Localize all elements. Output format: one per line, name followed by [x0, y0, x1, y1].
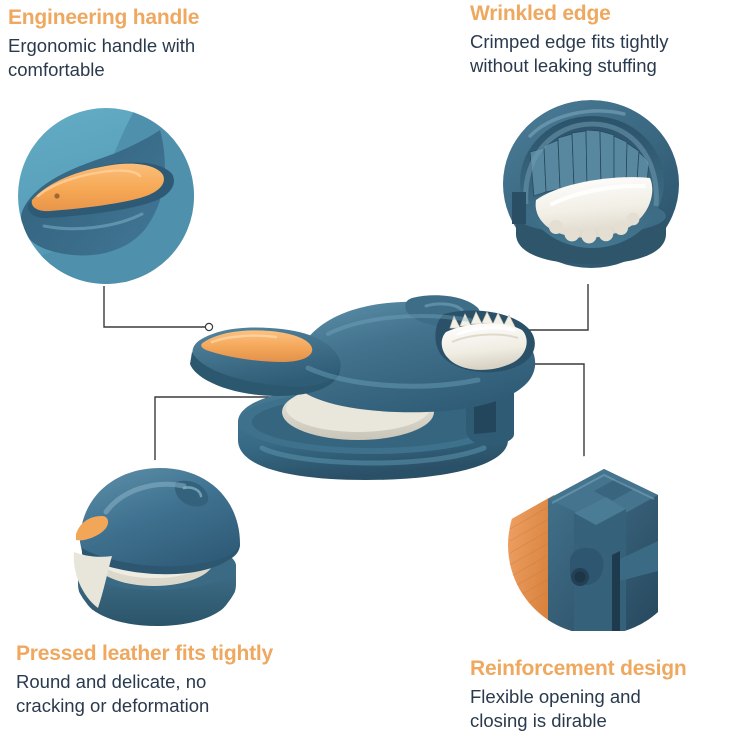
callout-body-line: Flexible opening and — [470, 685, 687, 709]
callout-body-line: closing is dirable — [470, 709, 687, 733]
hinge-slot-gap — [612, 551, 620, 631]
callout-wrinkled-edge: Wrinkled edge Crimped edge fits tightly … — [470, 2, 668, 79]
callout-title-reinforcement-design: Reinforcement design — [470, 657, 687, 682]
handle-screw-hole — [54, 193, 59, 198]
callout-body-pressed-leather: Round and delicate, no cracking or defor… — [16, 670, 273, 719]
callout-title-wrinkled-edge: Wrinkled edge — [470, 2, 668, 27]
callout-body-line: Round and delicate, no — [16, 670, 273, 694]
callout-body-wrinkled-edge: Crimped edge fits tightly without leakin… — [470, 30, 668, 79]
inset-handle-closeup — [18, 108, 194, 284]
hinge-pin-hole-inner — [575, 572, 586, 583]
callout-body-engineering-handle: Ergonomic handle with comfortable — [8, 34, 199, 83]
callout-body-reinforcement-design: Flexible opening and closing is dirable — [470, 685, 687, 734]
callout-title-pressed-leather: Pressed leather fits tightly — [16, 642, 273, 667]
hero-product-dumpling-maker — [178, 272, 572, 484]
product-infographic: Engineering handle Ergonomic handle with… — [0, 0, 750, 745]
callout-body-line: Crimped edge fits tightly — [470, 30, 668, 54]
callout-body-line: Ergonomic handle with — [8, 34, 199, 58]
callout-reinforcement-design: Reinforcement design Flexible opening an… — [470, 657, 687, 734]
callout-title-engineering-handle: Engineering handle — [8, 6, 199, 31]
callout-body-line: cracking or deformation — [16, 694, 273, 718]
inset-crimped-edge-closeup — [500, 100, 682, 282]
mould-hinge-tab — [512, 192, 526, 224]
callout-engineering-handle: Engineering handle Ergonomic handle with… — [8, 6, 199, 83]
callout-body-line: comfortable — [8, 58, 199, 82]
callout-body-line: without leaking stuffing — [470, 54, 668, 78]
callout-pressed-leather: Pressed leather fits tightly Round and d… — [16, 642, 273, 719]
inset-press-dome-closeup — [68, 460, 246, 638]
